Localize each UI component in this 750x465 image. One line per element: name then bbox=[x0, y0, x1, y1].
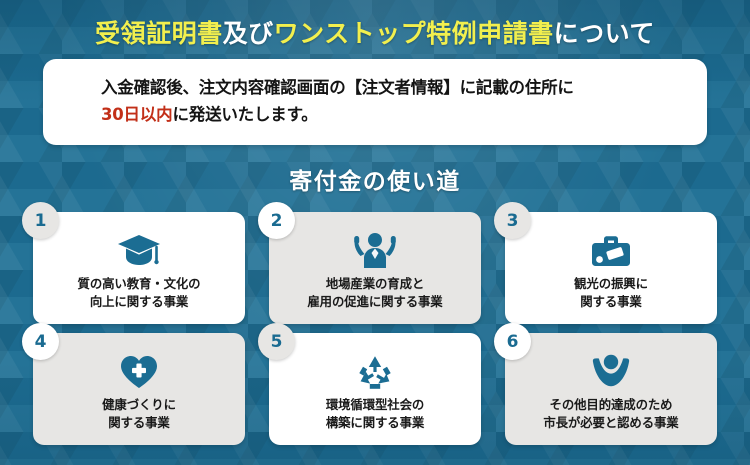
person-raised-arms-icon bbox=[354, 232, 396, 270]
card-number-badge-6: 6 bbox=[494, 323, 531, 360]
card-label-4-line-1: 健康づくりに bbox=[102, 396, 176, 414]
card-label-5-line-2: 構築に関する事業 bbox=[326, 414, 424, 432]
card-label-6-line-2: 市長が必要と認める事業 bbox=[543, 414, 678, 432]
donation-use-card-1[interactable]: 1 質の高い教育・文化の 向上に関する事業 bbox=[33, 212, 245, 324]
donation-use-card-2[interactable]: 2 地場産業の育成と 雇用の促進に関する事業 bbox=[269, 212, 481, 324]
page-title: 受領証明書及びワンストップ特例申請書について bbox=[0, 14, 750, 50]
card-label-6-line-1: その他目的達成のため bbox=[543, 396, 678, 414]
page-title-part-2: 及び bbox=[223, 19, 274, 48]
card-label-5: 環境循環型社会の 構築に関する事業 bbox=[326, 396, 424, 431]
graduation-cap-icon bbox=[117, 232, 161, 270]
card-number-badge-2: 2 bbox=[258, 202, 295, 239]
card-label-5-line-1: 環境循環型社会の bbox=[326, 396, 424, 414]
heart-plus-icon bbox=[119, 353, 159, 391]
shipping-info-card: 入金確認後、注文内容確認画面の【注文者情報】に記載の住所に 30日以内に発送いた… bbox=[43, 59, 707, 145]
shipping-info-line-2: 30日以内に発送いたします。 bbox=[101, 102, 707, 129]
person-in-hands-icon bbox=[592, 353, 630, 391]
card-number-badge-5: 5 bbox=[258, 323, 295, 360]
donation-use-card-6[interactable]: 6 その他目的達成のため 市長が必要と認める事業 bbox=[505, 333, 717, 445]
card-label-3-line-1: 観光の振興に bbox=[574, 275, 648, 293]
card-label-4: 健康づくりに 関する事業 bbox=[102, 396, 176, 431]
card-label-4-line-2: 関する事業 bbox=[102, 414, 176, 432]
donation-use-card-3[interactable]: 3 観光の振興に 関する事業 bbox=[505, 212, 717, 324]
recycle-icon bbox=[355, 353, 395, 391]
donation-use-grid: 1 質の高い教育・文化の 向上に関する事業 2 bbox=[33, 212, 717, 445]
card-label-3-line-2: 関する事業 bbox=[574, 293, 648, 311]
suitcase-icon bbox=[589, 232, 633, 270]
card-number-badge-3: 3 bbox=[494, 202, 531, 239]
card-label-1-line-2: 向上に関する事業 bbox=[78, 293, 201, 311]
donation-use-card-4[interactable]: 4 健康づくりに 関する事業 bbox=[33, 333, 245, 445]
page-title-part-4: について bbox=[554, 19, 655, 48]
card-label-2-line-2: 雇用の促進に関する事業 bbox=[307, 293, 442, 311]
shipping-info-line-1: 入金確認後、注文内容確認画面の【注文者情報】に記載の住所に bbox=[101, 75, 707, 102]
page-title-part-1: 受領証明書 bbox=[95, 19, 223, 48]
card-number-badge-4: 4 bbox=[22, 323, 59, 360]
donation-use-card-5[interactable]: 5 環境循環型社会の 構築に関する事業 bbox=[269, 333, 481, 445]
section-heading-donation-use: 寄付金の使い道 bbox=[0, 162, 750, 196]
page-title-part-3: ワンストップ特例申請書 bbox=[274, 19, 554, 48]
card-label-1: 質の高い教育・文化の 向上に関する事業 bbox=[78, 275, 201, 310]
poster-root: 受領証明書及びワンストップ特例申請書について 入金確認後、注文内容確認画面の【注… bbox=[0, 0, 750, 465]
card-label-6: その他目的達成のため 市長が必要と認める事業 bbox=[543, 396, 678, 431]
shipping-deadline-highlight: 30日以内 bbox=[101, 105, 172, 124]
card-label-3: 観光の振興に 関する事業 bbox=[574, 275, 648, 310]
card-number-badge-1: 1 bbox=[22, 202, 59, 239]
card-label-2: 地場産業の育成と 雇用の促進に関する事業 bbox=[307, 275, 442, 310]
card-label-1-line-1: 質の高い教育・文化の bbox=[78, 275, 201, 293]
shipping-info-line-2-rest: に発送いたします。 bbox=[172, 105, 317, 124]
card-label-2-line-1: 地場産業の育成と bbox=[307, 275, 442, 293]
